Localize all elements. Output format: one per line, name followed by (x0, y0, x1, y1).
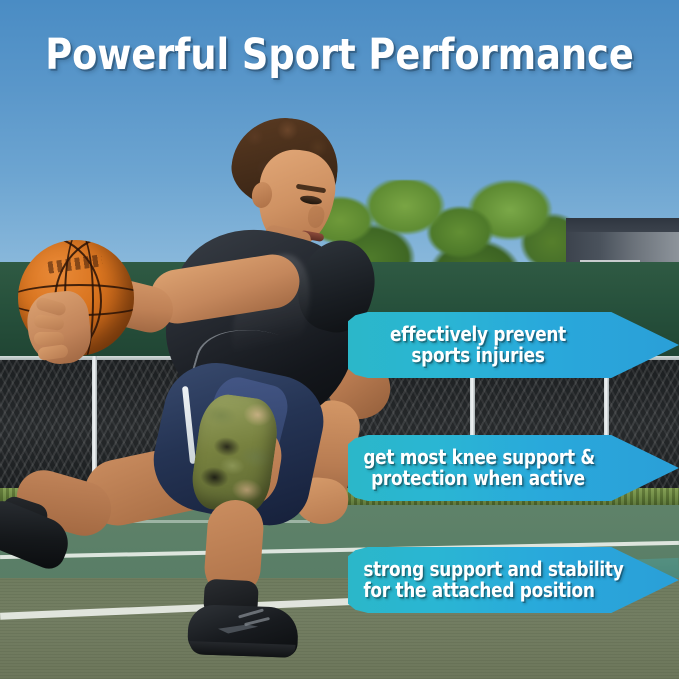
feature-arrow-text-2: get most knee support & protection when … (363, 447, 592, 489)
product-marketing-poster: Powerful Sport Performance effectively p… (0, 0, 679, 679)
poster-headline: Powerful Sport Performance (17, 32, 662, 78)
feature-arrow-line-1: effectively prevent (363, 324, 592, 345)
feature-arrow-line-1: get most knee support & (363, 447, 592, 468)
feature-arrow-line-2: for the attached position (363, 580, 592, 601)
feature-arrow-line-2: sports injuries (363, 345, 592, 366)
feature-arrow-line-1: strong support and stability (363, 559, 592, 580)
feature-arrow-callout-1: effectively prevent sports injuries (348, 312, 679, 378)
finger (34, 332, 64, 345)
feature-arrow-text-3: strong support and stability for the att… (363, 559, 592, 601)
feature-arrow-line-2: protection when active (363, 468, 592, 489)
feature-arrow-text-1: effectively prevent sports injuries (363, 324, 592, 366)
front-sneaker (187, 604, 299, 658)
feature-arrow-callout-2: get most knee support & protection when … (348, 435, 679, 501)
feature-arrow-callout-3: strong support and stability for the att… (348, 547, 679, 613)
